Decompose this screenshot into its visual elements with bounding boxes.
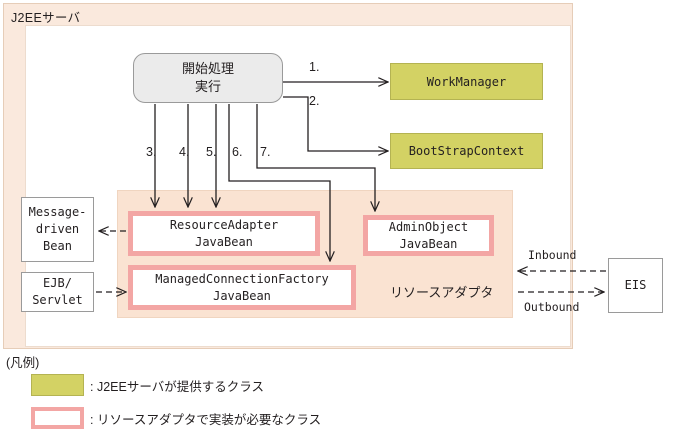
- node-message-driven-bean: Message- driven Bean: [21, 197, 94, 262]
- node-work-manager: WorkManager: [390, 63, 543, 100]
- node-ejb-servlet-line2: Servlet: [32, 292, 83, 309]
- node-resource-adapter-javabean-line1: ResourceAdapter: [170, 217, 278, 233]
- start-process-line1: 開始処理: [182, 60, 234, 78]
- node-resource-adapter-javabean: ResourceAdapter JavaBean: [128, 211, 320, 256]
- legend-swatch-impl-class: [31, 407, 84, 429]
- node-ejb-servlet: EJB/ Servlet: [21, 272, 94, 312]
- node-ejb-servlet-line1: EJB/: [43, 275, 72, 292]
- node-adminobject-javabean-line1: AdminObject: [389, 219, 468, 235]
- node-bootstrap-context: BootStrapContext: [390, 133, 543, 169]
- node-managedconnectionfactory-javabean-line1: ManagedConnectionFactory: [155, 271, 328, 287]
- node-eis: EIS: [608, 258, 663, 313]
- resource-adapter-label: リソースアダプタ: [390, 282, 493, 301]
- node-bootstrap-context-label: BootStrapContext: [409, 144, 525, 158]
- node-eis-label: EIS: [625, 277, 647, 294]
- connector-label-7: 7.: [260, 145, 270, 159]
- node-adminobject-javabean-line2: JavaBean: [400, 236, 458, 252]
- connector-label-outbound: Outbound: [524, 300, 579, 314]
- node-managedconnectionfactory-javabean: ManagedConnectionFactory JavaBean: [128, 265, 356, 310]
- legend-title: (凡例): [6, 352, 39, 371]
- connector-label-1: 1.: [309, 60, 319, 74]
- connector-label-2: 2.: [309, 94, 319, 108]
- legend-text-server-class: : J2EEサーバが提供するクラス: [90, 376, 264, 395]
- connector-label-6: 6.: [232, 145, 242, 159]
- node-message-driven-bean-line3: Bean: [43, 238, 72, 255]
- start-process-node: 開始処理 実行: [133, 53, 283, 103]
- connector-label-inbound: Inbound: [528, 248, 576, 262]
- node-message-driven-bean-line2: driven: [36, 221, 79, 238]
- node-message-driven-bean-line1: Message-: [29, 204, 87, 221]
- start-process-line2: 実行: [195, 78, 221, 96]
- connector-label-5: 5.: [206, 145, 216, 159]
- node-managedconnectionfactory-javabean-line2: JavaBean: [213, 288, 271, 304]
- connector-label-3: 3.: [146, 145, 156, 159]
- legend-text-impl-class: : リソースアダプタで実装が必要なクラス: [90, 409, 321, 428]
- node-resource-adapter-javabean-line2: JavaBean: [195, 234, 253, 250]
- node-adminobject-javabean: AdminObject JavaBean: [363, 215, 494, 256]
- legend-swatch-server-class: [31, 374, 84, 396]
- j2ee-server-label: J2EEサーバ: [11, 7, 80, 26]
- connector-label-4: 4.: [179, 145, 189, 159]
- node-work-manager-label: WorkManager: [427, 75, 506, 89]
